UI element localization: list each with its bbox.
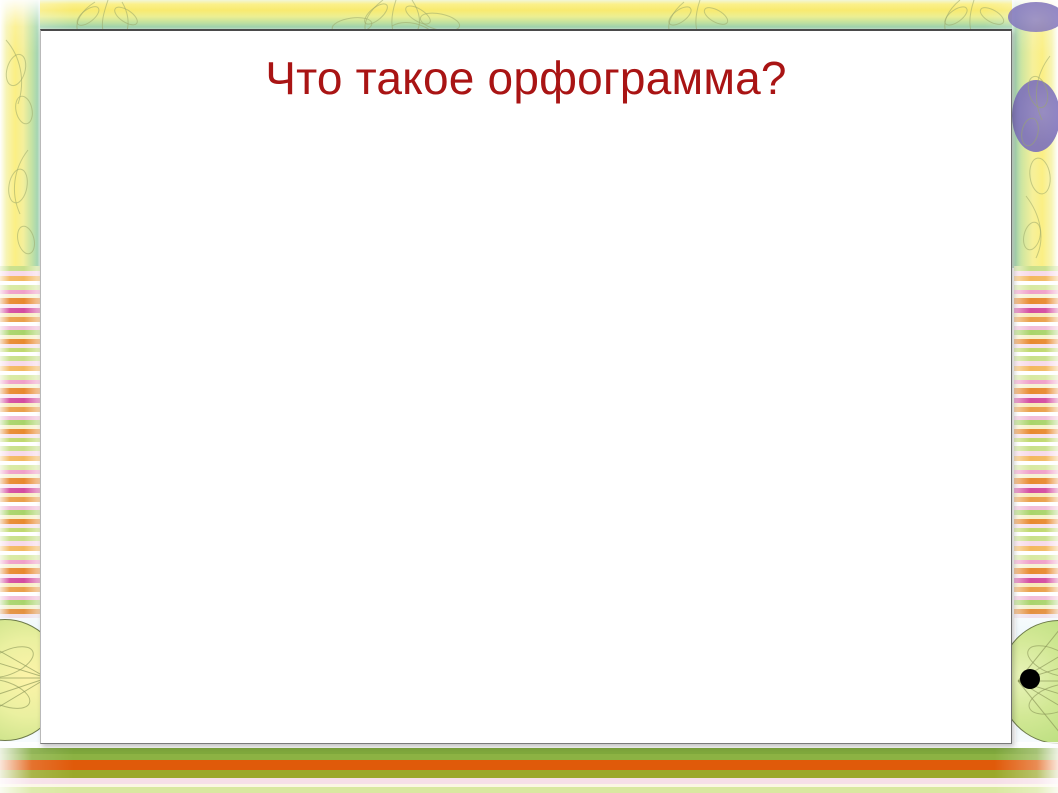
purple-oval-decoration [1012,80,1058,152]
top-border-fade [0,0,1058,30]
slide-body-text [101,151,951,703]
left-border-fade-upper [0,0,40,268]
slide: Что такое орфограмма? [0,0,1058,793]
right-striped-border-veil [1014,266,1058,618]
bottom-border-fade [0,748,1058,793]
page-title: Что такое орфограмма? [41,51,1011,105]
left-striped-border-veil [0,266,40,618]
slide-content-card: Что такое орфограмма? [40,29,1012,744]
purple-oval-decoration-top [1008,2,1058,32]
